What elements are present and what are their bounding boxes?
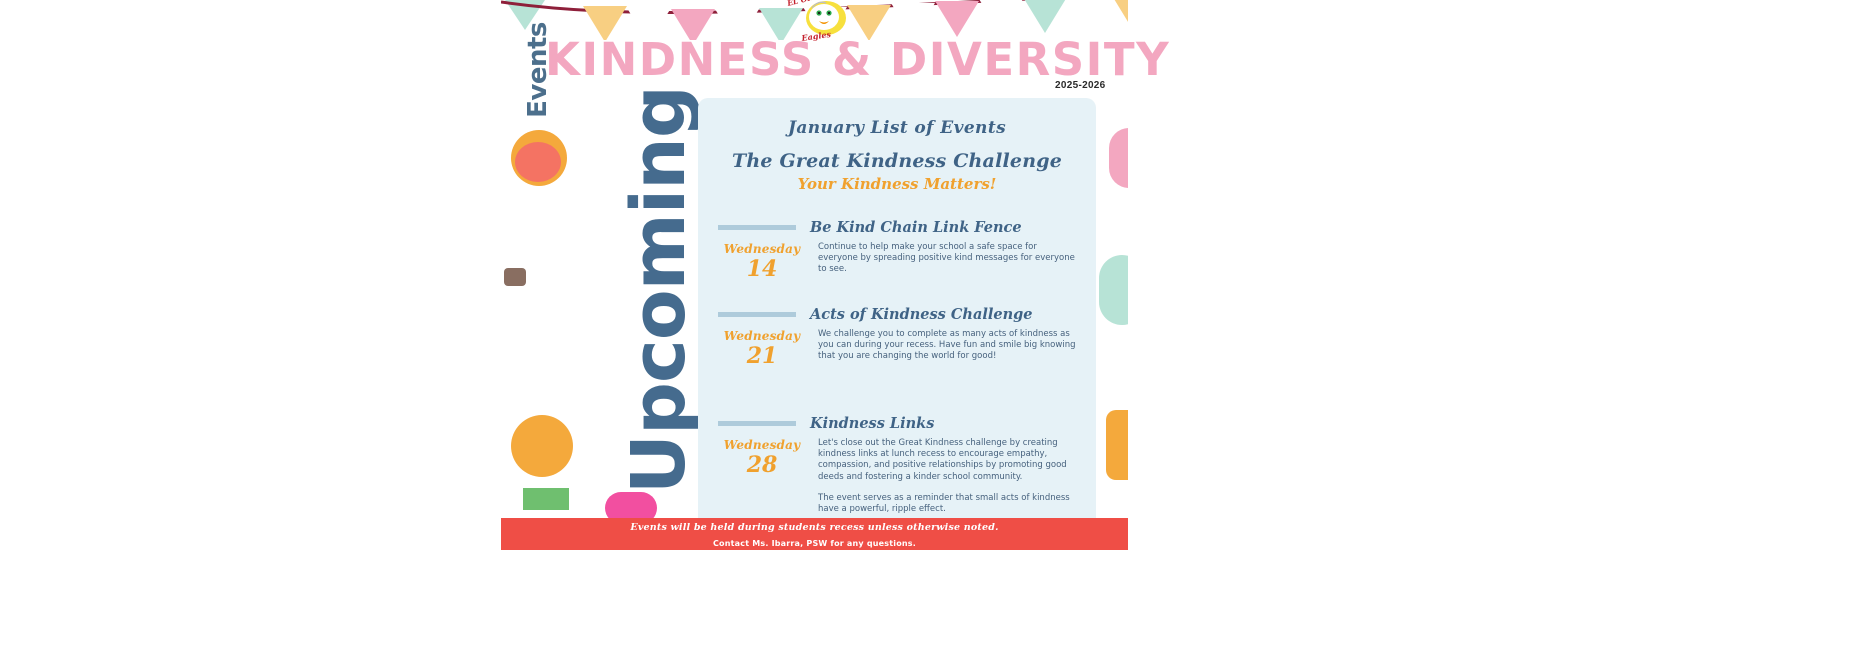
event-body: Wednesday 14 Continue to help make your … <box>716 240 1078 280</box>
footer-note-primary: Events will be held during students rece… <box>501 522 1128 533</box>
vertical-heading-events: Events <box>523 22 553 118</box>
decor-blob-pink-right <box>1109 128 1128 188</box>
events-list: Be Kind Chain Link Fence Wednesday 14 Co… <box>716 219 1078 515</box>
event-paragraph: Let's close out the Great Kindness chall… <box>818 438 1078 483</box>
event-body: Wednesday 21 We challenge you to complet… <box>716 327 1078 367</box>
event-header: Kindness Links <box>716 415 1078 432</box>
decor-blob-green-leaf <box>523 488 569 510</box>
decor-blob-butterfly <box>504 268 526 286</box>
event-body: Wednesday 28 Let's close out the Great K… <box>716 436 1078 515</box>
list-item[interactable]: Kindness Links Wednesday 28 Let's close … <box>716 415 1078 515</box>
decor-blob-orange-right <box>1106 410 1128 480</box>
card-heading-month: January List of Events <box>716 118 1078 138</box>
list-item[interactable]: Acts of Kindness Challenge Wednesday 21 … <box>716 306 1078 367</box>
screenshot-canvas: EL ORO Eagles KINDNESS & DIVERSITY 2025-… <box>0 0 1850 650</box>
decor-blob-pink-top <box>515 142 561 182</box>
event-description: Let's close out the Great Kindness chall… <box>818 436 1078 515</box>
event-weekday: Wednesday <box>716 329 808 343</box>
event-day-number: 21 <box>716 345 808 367</box>
event-date: Wednesday 21 <box>716 327 808 367</box>
event-day-number: 14 <box>716 258 808 280</box>
event-paragraph: We challenge you to complete as many act… <box>818 329 1078 363</box>
event-day-number: 28 <box>716 454 808 476</box>
footer-note-contact: Contact Ms. Ibarra, PSW for any question… <box>501 539 1128 548</box>
card-tagline: Your Kindness Matters! <box>716 175 1078 193</box>
events-card: January List of Events The Great Kindnes… <box>698 98 1096 518</box>
list-item[interactable]: Be Kind Chain Link Fence Wednesday 14 Co… <box>716 219 1078 280</box>
event-weekday: Wednesday <box>716 242 808 256</box>
event-header: Be Kind Chain Link Fence <box>716 219 1078 236</box>
divider-rule <box>718 225 796 230</box>
vertical-heading-upcoming: Upcoming <box>624 86 694 494</box>
decor-blob-orange-bottom <box>511 415 573 477</box>
event-header: Acts of Kindness Challenge <box>716 306 1078 323</box>
event-paragraph: The event serves as a reminder that smal… <box>818 493 1078 515</box>
card-heading-challenge: The Great Kindness Challenge <box>716 150 1078 172</box>
divider-rule <box>718 312 796 317</box>
decor-blob-teal-right <box>1099 255 1128 325</box>
event-title: Acts of Kindness Challenge <box>810 306 1033 323</box>
event-description: Continue to help make your school a safe… <box>818 240 1078 280</box>
school-year-label: 2025-2026 <box>1055 80 1106 91</box>
divider-rule <box>718 421 796 426</box>
page-title: KINDNESS & DIVERSITY <box>545 37 1125 82</box>
event-paragraph: Continue to help make your school a safe… <box>818 242 1078 276</box>
footer-banner: Events will be held during students rece… <box>501 518 1128 550</box>
event-description: We challenge you to complete as many act… <box>818 327 1078 367</box>
event-title: Be Kind Chain Link Fence <box>810 219 1022 236</box>
event-date: Wednesday 14 <box>716 240 808 280</box>
event-title: Kindness Links <box>810 415 934 432</box>
event-weekday: Wednesday <box>716 438 808 452</box>
event-date: Wednesday 28 <box>716 436 808 515</box>
